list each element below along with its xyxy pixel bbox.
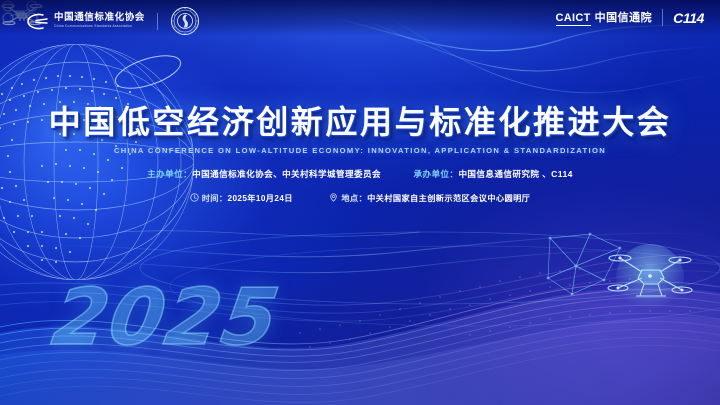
page-title: 中国低空经济创新应用与标准化推进大会 bbox=[49, 103, 672, 141]
header-right-logos: CAICT 中国信通院 C114 bbox=[556, 9, 704, 26]
caict-label-cn: 中国信通院 bbox=[595, 9, 653, 25]
header-left-logos: 中国通信标准化协会 China Communications Standards… bbox=[26, 6, 200, 36]
logo-divider bbox=[157, 13, 158, 30]
time-label: 时间： bbox=[202, 194, 228, 203]
organizer-label: 承办单位： bbox=[413, 169, 458, 179]
conference-poster: 2025 中国通信标准化协会 China Communications Stan… bbox=[0, 0, 720, 405]
clock-icon bbox=[190, 189, 199, 207]
caict-label-en: CAICT bbox=[556, 12, 591, 26]
time-value: 2025年10月24日 bbox=[227, 194, 292, 203]
title-block: 中国低空经济创新应用与标准化推进大会 CHINA CONFERENCE ON L… bbox=[0, 103, 720, 155]
caict-logo[interactable]: CAICT 中国信通院 bbox=[556, 9, 653, 26]
time-item: 时间：2025年10月24日 bbox=[190, 188, 293, 207]
place-value: 中关村国家自主创新示范区会议中心圆明厅 bbox=[367, 194, 530, 203]
ccsa-swoosh-icon bbox=[26, 12, 49, 31]
ccsa-name-en: China Communications Standards Associati… bbox=[54, 25, 145, 29]
drone-right-wireframe-icon bbox=[606, 248, 702, 336]
location-pin-icon bbox=[329, 189, 338, 207]
c114-logo[interactable]: C114 bbox=[673, 10, 704, 26]
place-label: 地点： bbox=[341, 194, 367, 203]
organizer-row: 主办单位：中国通信标准化协会、中关村科学城管理委员会 承办单位：中国信息通信研究… bbox=[0, 164, 720, 182]
logo-divider-right bbox=[662, 9, 663, 26]
year-watermark: 2025 bbox=[48, 279, 285, 357]
host-unit: 主办单位：中国通信标准化协会、中关村科学城管理委员会 bbox=[147, 164, 381, 182]
page-subtitle: CHINA CONFERENCE ON LOW-ALTITUDE ECONOMY… bbox=[0, 146, 720, 155]
circular-seal-emblem-icon[interactable] bbox=[170, 6, 200, 36]
host-label: 主办单位： bbox=[147, 169, 192, 179]
organizer-value: 中国信息通信研究院 、C114 bbox=[458, 169, 572, 179]
host-value: 中国通信标准化协会、中关村科学城管理委员会 bbox=[192, 169, 381, 179]
ccsa-name-cn: 中国通信标准化协会 bbox=[54, 13, 145, 23]
place-item: 地点：中关村国家自主创新示范区会议中心圆明厅 bbox=[329, 188, 530, 207]
meta-row: 时间：2025年10月24日 地点：中关村国家自主创新示范区会议中心圆明厅 bbox=[0, 188, 720, 207]
ccsa-logo[interactable]: 中国通信标准化协会 China Communications Standards… bbox=[26, 12, 145, 31]
organizer-unit: 承办单位：中国信息通信研究院 、C114 bbox=[413, 164, 572, 182]
